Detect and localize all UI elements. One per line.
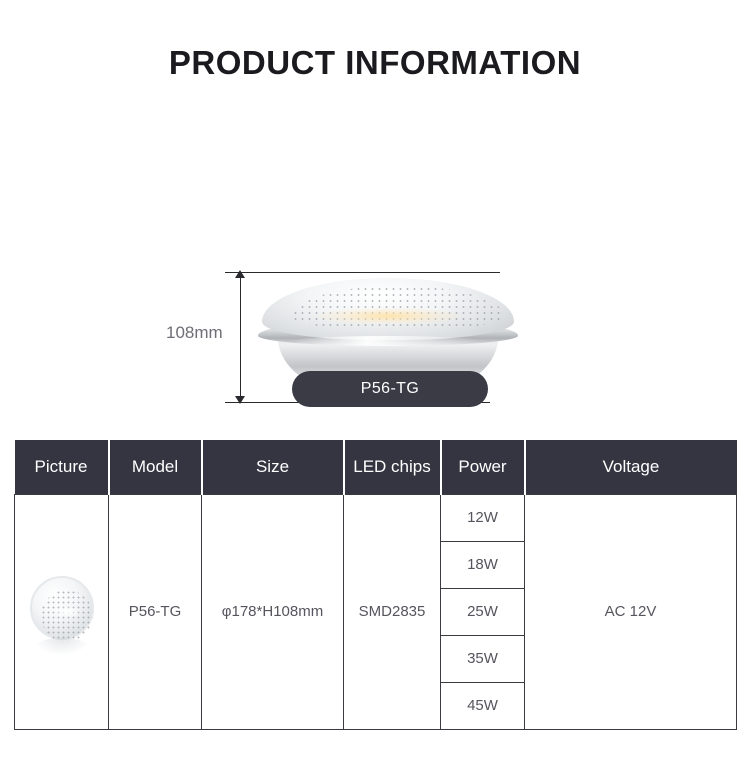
model-badge: P56-TG	[292, 371, 488, 407]
cell-voltage: AC 12V	[525, 494, 737, 729]
thumbnail-highlight	[52, 606, 82, 618]
column-header-led-chips: LED chips	[344, 440, 441, 494]
cell-power-25w: 25W	[441, 588, 525, 635]
table-header-row: Picture Model Size LED chips Power Volta…	[15, 440, 737, 494]
thumbnail-reflection	[36, 638, 88, 654]
column-header-size: Size	[202, 440, 344, 494]
lamp-lens-dome	[262, 278, 514, 340]
lamp-specular-highlight	[292, 336, 482, 346]
column-header-picture: Picture	[15, 440, 109, 494]
cell-power-12w: 12W	[441, 494, 525, 541]
thumbnail-lens-face	[30, 576, 94, 640]
cell-picture	[15, 494, 109, 729]
cell-power-18w: 18W	[441, 541, 525, 588]
model-badge-label: P56-TG	[361, 380, 419, 398]
page-title: PRODUCT INFORMATION	[0, 44, 750, 82]
cell-size: φ178*H108mm	[202, 494, 344, 729]
height-dimension-label: 108mm	[166, 323, 223, 343]
lens-glow-highlight	[318, 308, 458, 324]
dimension-tick-top	[225, 272, 500, 273]
column-header-voltage: Voltage	[525, 440, 737, 494]
column-header-model: Model	[109, 440, 202, 494]
cell-power-35w: 35W	[441, 635, 525, 682]
column-header-power: Power	[441, 440, 525, 494]
arrow-down-icon	[235, 396, 245, 404]
specification-table: Picture Model Size LED chips Power Volta…	[14, 440, 737, 730]
product-information-page: PRODUCT INFORMATION 108mm 178mm P56-TG	[0, 0, 750, 766]
cell-model: P56-TG	[109, 494, 202, 729]
cell-power-45w: 45W	[441, 682, 525, 729]
product-thumbnail	[27, 570, 97, 654]
arrow-up-icon	[235, 270, 245, 278]
cell-led-chips: SMD2835	[344, 494, 441, 729]
table-row: P56-TG φ178*H108mm SMD2835 12W AC 12V	[15, 494, 737, 541]
height-dimension-line	[240, 273, 241, 403]
table-body: P56-TG φ178*H108mm SMD2835 12W AC 12V 18…	[15, 494, 737, 729]
